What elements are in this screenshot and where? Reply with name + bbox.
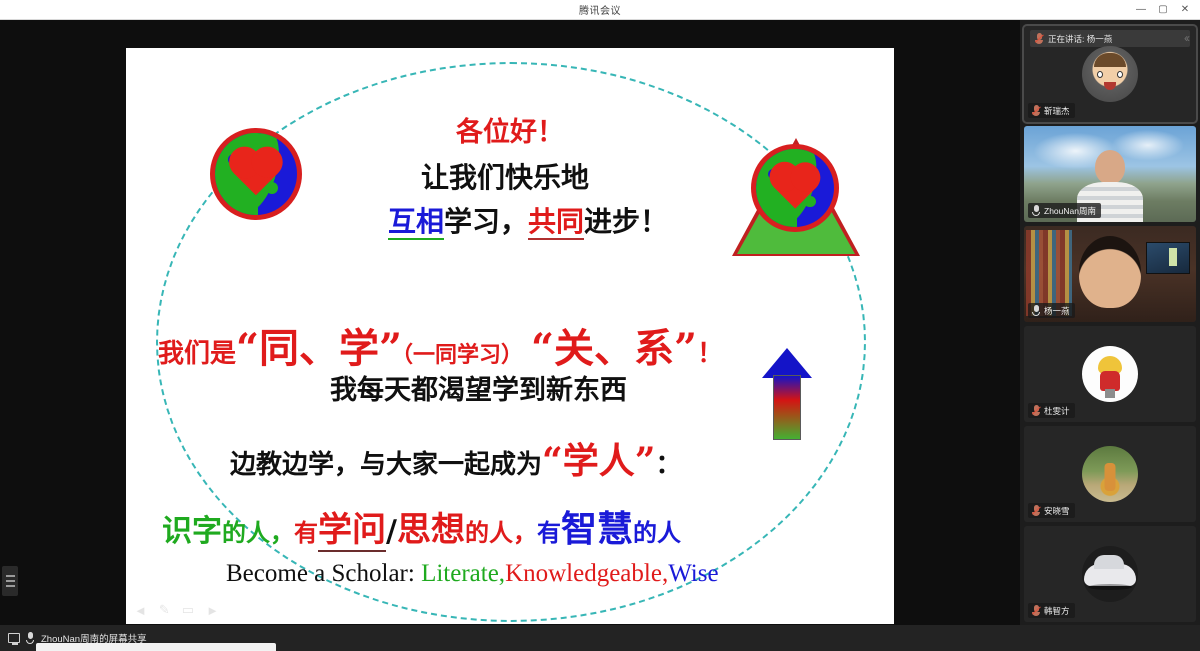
- participant-name-badge: 杜雯计: [1028, 403, 1075, 418]
- app-window: 腾讯会议 — ▢ ✕: [0, 0, 1200, 651]
- participant-name: 韩智方: [1044, 605, 1070, 617]
- participant-name-badge: 杨一燕: [1028, 303, 1075, 318]
- slide-l7-i: 智慧: [561, 508, 633, 550]
- participant-panel[interactable]: 正在讲话: 杨一燕 ‹‹ 靳瑞杰 ZhouNan周南: [1020, 20, 1200, 625]
- mic-muted-icon: [1032, 105, 1040, 116]
- screen-share-icon: [8, 633, 20, 643]
- slide-l6-c: ：: [655, 450, 681, 480]
- participant-name-badge: ZhouNan周南: [1028, 203, 1101, 218]
- speaking-banner: 正在讲话: 杨一燕: [1030, 30, 1190, 47]
- speaking-banner-label: 正在讲话: 杨一燕: [1048, 33, 1112, 45]
- slide-l7-f: 思想: [397, 510, 465, 550]
- slide-l7-b: 的人，: [222, 518, 294, 547]
- slide-line-english: Become a Scholar: Literate,Knowledgeable…: [226, 560, 719, 588]
- participant-tile[interactable]: 韩智方: [1024, 526, 1196, 622]
- slide-l4-a: 我们是: [158, 339, 236, 369]
- maximize-button[interactable]: ▢: [1152, 0, 1174, 20]
- window-controls: — ▢ ✕: [1130, 0, 1196, 20]
- participant-tile[interactable]: 杜雯计: [1024, 326, 1196, 422]
- slide-l6-a: 边教边学，与大家一起成为: [230, 450, 542, 480]
- avatar: [1082, 346, 1138, 402]
- slide-l3-b: 学习，: [444, 205, 528, 238]
- mic-icon: [1032, 305, 1040, 316]
- participant-tile[interactable]: 杨一燕: [1024, 226, 1196, 322]
- slide-l8-d: Wise: [668, 560, 718, 587]
- close-button[interactable]: ✕: [1174, 0, 1196, 20]
- slide-line-become-learner: 边教边学，与大家一起成为“学人”：: [230, 432, 681, 484]
- next-slide-icon[interactable]: ►: [206, 603, 219, 618]
- triangle-logo-right: [732, 116, 860, 256]
- slide-l6-b: “学人”: [542, 440, 655, 482]
- prev-slide-icon[interactable]: ◄: [134, 603, 147, 618]
- minimize-button[interactable]: —: [1130, 0, 1152, 20]
- slide-line-eager-to-learn: 我每天都渴望学到新东西: [330, 368, 627, 407]
- participant-name-badge: 韩智方: [1028, 603, 1075, 618]
- slide-line-greeting: 各位好！: [456, 110, 564, 149]
- slide-line-happy: 让我们快乐地: [421, 156, 589, 196]
- slide-l8-b: Literate,: [421, 560, 505, 587]
- avatar: [1082, 46, 1138, 102]
- share-tooltip-strip: [36, 643, 276, 651]
- avatar: [1082, 446, 1138, 502]
- slide-l7-c: 有: [294, 518, 318, 547]
- slide-l4-b: “同、学”: [236, 325, 402, 372]
- shared-screen-stage[interactable]: 各位好！ 让我们快乐地 互相学习，共同进步！ 我们是“同、学”（一同学习）“关、…: [0, 20, 1020, 625]
- heart-circle-logo-left: [210, 128, 302, 220]
- participant-tile[interactable]: ZhouNan周南: [1024, 126, 1196, 222]
- participant-name: ZhouNan周南: [1044, 205, 1096, 217]
- mic-icon: [26, 632, 35, 644]
- slide-line-three-kinds: 识字的人，有学问/思想的人，有智慧的人: [162, 500, 681, 552]
- chevron-collapse-icon[interactable]: ‹‹: [1184, 31, 1188, 45]
- slide-l7-e: /: [386, 514, 397, 549]
- mic-muted-icon: [1032, 505, 1040, 516]
- participant-tile[interactable]: 正在讲话: 杨一燕 ‹‹ 靳瑞杰: [1024, 26, 1196, 122]
- mic-muted-icon: [1032, 605, 1040, 616]
- slide-l3-d: 进步！: [584, 205, 668, 238]
- participant-name: 安晓雪: [1044, 505, 1070, 517]
- gradient-up-arrow: [762, 348, 812, 443]
- participant-tile[interactable]: 安晓雪: [1024, 426, 1196, 522]
- slide-l3-a: 互相: [388, 205, 444, 240]
- slide-l8-c: Knowledgeable,: [505, 560, 668, 587]
- slide-line-classmates: 我们是“同、学”（一同学习）“关、系”！: [158, 316, 723, 374]
- participant-name: 靳瑞杰: [1044, 105, 1070, 117]
- avatar: [1082, 546, 1138, 602]
- presentation-toolbar[interactable]: ◄ ✎ ▭ ►: [134, 602, 219, 618]
- pen-icon[interactable]: ✎: [159, 602, 170, 618]
- mic-icon: [1032, 205, 1040, 216]
- window-title: 腾讯会议: [579, 2, 621, 17]
- sidebar-toggle-icon[interactable]: [2, 566, 18, 596]
- status-bar: ZhouNan周南的屏幕共享: [0, 625, 1200, 651]
- presentation-slide[interactable]: 各位好！ 让我们快乐地 互相学习，共同进步！ 我们是“同、学”（一同学习）“关、…: [126, 48, 894, 624]
- mic-muted-icon: [1035, 33, 1043, 44]
- mic-muted-icon: [1032, 405, 1040, 416]
- slide-l7-g: 的人，: [465, 518, 537, 547]
- slide-l7-j: 的人: [633, 518, 681, 547]
- slide-line-mutual-learning: 互相学习，共同进步！: [388, 200, 668, 240]
- slide-l7-h: 有: [537, 518, 561, 547]
- participant-name: 杨一燕: [1044, 305, 1070, 317]
- slide-l3-c: 共同: [528, 205, 584, 240]
- title-bar: 腾讯会议 — ▢ ✕: [0, 0, 1200, 20]
- participant-name-badge: 安晓雪: [1028, 503, 1075, 518]
- slide-l7-d: 学问: [318, 510, 386, 552]
- participant-name: 杜雯计: [1044, 405, 1070, 417]
- slide-l4-c: （一同学习）: [402, 342, 523, 368]
- slide-l8-a: Become a Scholar:: [226, 560, 415, 587]
- slide-l4-e: ！: [697, 339, 723, 369]
- slide-l4-d: “关、系”: [531, 325, 697, 372]
- slide-l7-a: 识字: [162, 514, 222, 549]
- slide-menu-icon[interactable]: ▭: [182, 602, 194, 618]
- participant-name-badge: 靳瑞杰: [1028, 103, 1075, 118]
